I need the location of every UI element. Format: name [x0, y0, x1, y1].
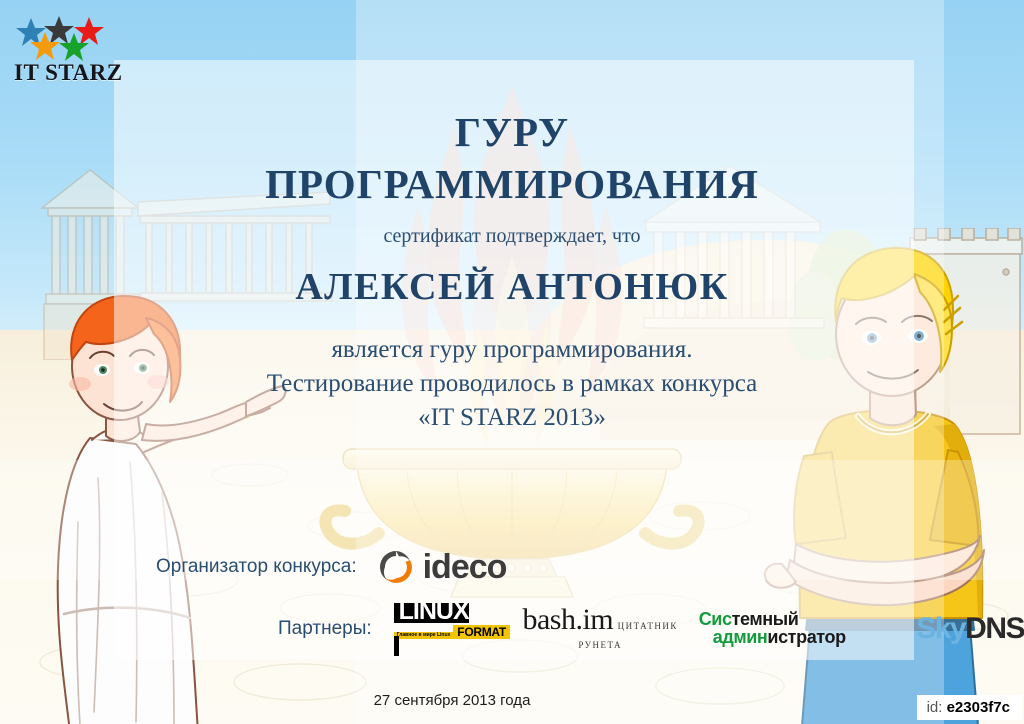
- certificate-id-label: id:: [927, 699, 943, 716]
- partners-row: Партнеры: LINUX Главное в мире Linux FOR…: [0, 600, 1024, 657]
- certificate-title-line1: ГУРУ: [0, 108, 1024, 156]
- linux-format-tagline: Главное в мире Linux: [394, 632, 454, 640]
- logo-stars-icon: [14, 14, 114, 62]
- certificate-title-line2: ПРОГРАММИРОВАНИЯ: [0, 160, 1024, 208]
- certificate-canvas: IT STARZ ГУРУ ПРОГРАММИРОВАНИЯ сертифика…: [0, 0, 1024, 724]
- ideco-logo: ideco: [377, 548, 507, 586]
- bash-im-wordmark: bash.im: [522, 603, 613, 636]
- linux-format-word2: FORMAT: [453, 625, 510, 639]
- partner-logo-skydns: SkyDNS: [916, 614, 1024, 644]
- sysadmin-part2-green: админ: [713, 627, 768, 647]
- linux-format-word1: LINUX: [399, 597, 469, 625]
- ideco-swirl-icon: [377, 548, 415, 586]
- brand-logo-text: IT STARZ: [14, 60, 124, 86]
- certificate-body-line1: является гуру программирования.: [0, 336, 1024, 364]
- ideco-wordmark: ideco: [423, 550, 507, 584]
- partner-logos: LINUX Главное в мире Linux FORMAT bash.i…: [394, 600, 1024, 657]
- issue-date: 27 сентября 2013 года: [0, 692, 1024, 709]
- organizer-label: Организатор конкурса:: [156, 556, 357, 578]
- certificate-body-line3: «IT STARZ 2013»: [0, 404, 1024, 432]
- organizer-row: Организатор конкурса: ideco: [0, 548, 1024, 586]
- recipient-name: АЛЕКСЕЙ АНТОНЮК: [0, 265, 1024, 309]
- brand-logo: IT STARZ: [14, 14, 124, 92]
- partner-logo-sysadmin: Системный администратор: [699, 611, 899, 646]
- skydns-word1: Sky: [916, 612, 965, 645]
- partner-logo-linux-format: LINUX Главное в мире Linux FORMAT: [394, 600, 502, 657]
- certificate-body-line2: Тестирование проводилось в рамках конкур…: [0, 370, 1024, 398]
- certificate-id-value: e2303f7c: [947, 699, 1010, 716]
- certificate-content: IT STARZ ГУРУ ПРОГРАММИРОВАНИЯ сертифика…: [0, 0, 1024, 724]
- skydns-word2: DNS: [965, 612, 1024, 645]
- partners-label: Партнеры:: [278, 618, 372, 640]
- certificate-subtitle: сертификат подтверждает, что: [0, 225, 1024, 248]
- sysadmin-part2-dark: истратор: [767, 627, 845, 647]
- partner-logo-bash-im: bash.im ЦИТАТНИК РУНЕТА: [520, 605, 681, 653]
- certificate-id-badge: id: e2303f7c: [917, 695, 1022, 720]
